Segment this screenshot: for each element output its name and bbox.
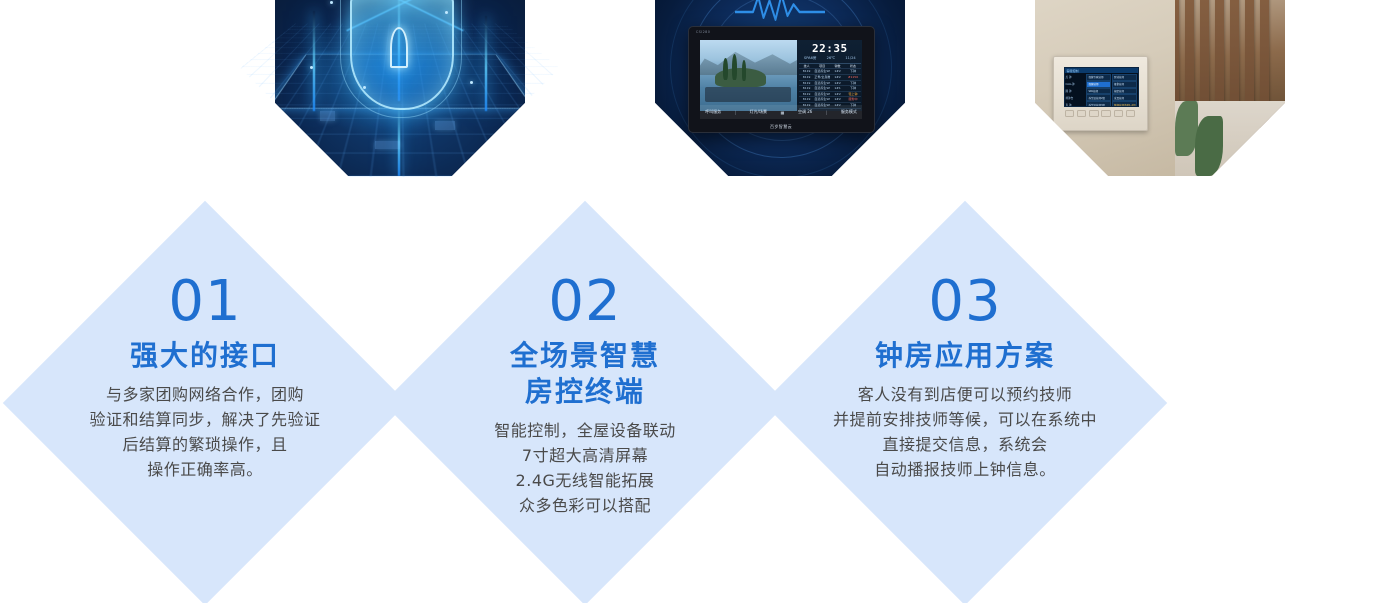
wall-panel-screen[interactable]: 客服控制 点 钟CALL钟圈 钟排钟台直 钟 保健专家技师区域技师保健技师推拿技… <box>1064 67 1139 107</box>
panel-left-label[interactable]: 点 钟 <box>1066 75 1085 79</box>
cell-count: 1#1 <box>830 86 845 91</box>
tablet-bottom-bar[interactable]: 呼叫服务 | 灯光/场景 ▦ 空调 26 | 服务模式 <box>700 105 863 120</box>
panel-left-label[interactable]: 直 钟 <box>1066 103 1085 107</box>
tablet-screen[interactable]: 22:35 SPA6房 26℃ 11/24 技人 项目 钟数 <box>700 40 863 111</box>
panel-row: 养生馆技师3组替换技师清单1-2组 <box>1086 101 1136 107</box>
wall-panel-left-labels[interactable]: 点 钟CALL钟圈 钟排钟台直 钟 <box>1065 73 1086 107</box>
btn-aircon[interactable]: 空调 26 <box>798 109 812 115</box>
wall-tablet-room-control-photo: CSI280 22:35 <box>655 0 905 176</box>
cell-count: 1#2 <box>830 69 845 74</box>
panel-button-4[interactable] <box>1101 110 1110 117</box>
clock-temp: 26℃ <box>827 56 836 61</box>
tablet-brand-bottom: 百岁智慧云 <box>689 124 874 130</box>
btn-light-scene[interactable]: 灯光/场景 <box>750 109 767 115</box>
card-1-description: 与多家团购网络合作，团购 验证和结算同步，解决了先验证 后结算的繁琐操作，且 操… <box>5 382 405 482</box>
panel-cell[interactable]: 养生馆技师3组 <box>1086 101 1111 107</box>
panel-cell[interactable]: SPA技师 <box>1086 88 1111 95</box>
shield-lock-icon <box>350 0 454 110</box>
card-3-title: 钟房应用方案 <box>765 338 1165 374</box>
clock-date: 11/24 <box>845 56 855 61</box>
th-item: 项目 <box>814 64 829 69</box>
cell-status: 下钟 <box>845 81 860 86</box>
btn-grid-icon[interactable]: ▦ <box>781 110 785 115</box>
panel-left-label[interactable]: CALL钟 <box>1066 82 1085 86</box>
card-3-image-diamond[interactable]: 客服控制 点 钟CALL钟圈 钟排钟台直 钟 保健专家技师区域技师保健技师推拿技… <box>983 0 1337 228</box>
cell-status: #1150 <box>845 75 860 80</box>
panel-row: 保健专家技师区域技师 <box>1086 74 1136 81</box>
cell-tech: 8119 <box>799 86 814 91</box>
wall-panel-buttons[interactable] <box>1064 110 1137 117</box>
cell-item: 正骨/全身推拿 <box>814 75 829 80</box>
panel-cell[interactable]: 推拿技师 <box>1112 81 1137 88</box>
cell-tech: 8119 <box>799 92 814 97</box>
panel-button-3[interactable] <box>1089 110 1098 117</box>
wall-control-panel[interactable]: 客服控制 点 钟CALL钟圈 钟排钟台直 钟 保健专家技师区域技师保健技师推拿技… <box>1053 56 1148 131</box>
panel-cell[interactable]: 养生馆技师2组 <box>1086 94 1111 101</box>
card-2-text-block: 02 全场景智慧 房控终端 智能控制，全屋设备联动 7寸超大高清屏幕 2.4G无… <box>385 260 785 518</box>
panel-button-2[interactable] <box>1077 110 1086 117</box>
cell-item: 自选养生SPA <box>814 97 829 102</box>
card-3-description: 客人没有到店便可以预约技师 并提前安排技师等候，可以在系统中 直接提交信息，系统… <box>765 382 1165 482</box>
cell-count: 1#2 <box>830 75 845 80</box>
card-1-text-diamond[interactable]: 01 强大的接口 与多家团购网络合作，团购 验证和结算同步，解决了先验证 后结算… <box>3 201 407 603</box>
tablet-brand-top: CSI280 <box>696 30 710 34</box>
panel-button-5[interactable] <box>1114 110 1123 117</box>
th-tech: 技人 <box>799 64 814 69</box>
btn-call-service[interactable]: 呼叫服务 <box>705 109 721 115</box>
cell-item: 自选养生SPA <box>814 86 829 91</box>
spa-corridor-wall-panel-photo: 客服控制 点 钟CALL钟圈 钟排钟台直 钟 保健专家技师区域技师保健技师推拿技… <box>1035 0 1285 176</box>
panel-cell[interactable]: 保健专家技师 <box>1086 74 1111 81</box>
card-1-number: 01 <box>5 272 405 332</box>
feature-diamonds-stage: 01 强大的接口 与多家团购网络合作，团购 验证和结算同步，解决了先验证 后结算… <box>0 0 1381 603</box>
cell-status: 服务中 <box>845 97 860 102</box>
card-2-text-diamond[interactable]: 02 全场景智慧 房控终端 智能控制，全屋设备联动 7寸超大高清屏幕 2.4G无… <box>383 201 787 603</box>
cell-tech: 8119 <box>799 81 814 86</box>
card-1-image-diamond[interactable] <box>223 0 577 228</box>
cell-count: 1#2 <box>830 81 845 86</box>
cell-tech: 8119 <box>799 69 814 74</box>
glowing-shield-circuit-board-photo <box>275 0 525 176</box>
cell-count: 1#2 <box>830 92 845 97</box>
heartbeat-pulse-icon <box>735 0 825 24</box>
btn-service-mode[interactable]: 服务模式 <box>841 109 857 115</box>
panel-button-6[interactable] <box>1126 110 1135 117</box>
card-2-image-diamond[interactable]: CSI280 22:35 <box>603 0 957 228</box>
th-count: 钟数 <box>830 64 845 69</box>
music-player-bar[interactable] <box>705 87 791 103</box>
cell-tech: 8119 <box>799 97 814 102</box>
cell-tech: 8119 <box>799 75 814 80</box>
panel-row: 养生馆技师2组采耳技师 <box>1086 94 1136 101</box>
card-3-text-diamond[interactable]: 03 钟房应用方案 客人没有到店便可以预约技师 并提前安排技师等候，可以在系统中… <box>763 201 1167 603</box>
th-status: 状态 <box>845 64 860 69</box>
sep-1: | <box>735 110 736 115</box>
card-2-description: 智能控制，全屋设备联动 7寸超大高清屏幕 2.4G无线智能拓展 众多色彩可以搭配 <box>385 418 785 518</box>
cell-item: 自选养生SPA <box>814 92 829 97</box>
cell-status: 下钟 <box>845 86 860 91</box>
panel-left-label[interactable]: 排钟台 <box>1066 96 1085 100</box>
card-2-title: 全场景智慧 房控终端 <box>385 338 785 410</box>
clock-panel: 22:35 SPA6房 26℃ 11/24 技人 项目 钟数 <box>797 40 862 111</box>
cell-item: 自选养生SPA <box>814 81 829 86</box>
card-2-number: 02 <box>385 272 785 332</box>
clock-room: SPA6房 <box>804 56 817 61</box>
cell-count: 1#2 <box>830 97 845 102</box>
panel-row: 保健技师推拿技师 <box>1086 81 1136 88</box>
card-3-text-block: 03 钟房应用方案 客人没有到店便可以预约技师 并提前安排技师等候，可以在系统中… <box>765 260 1165 482</box>
sep-2: | <box>826 110 827 115</box>
card-1-title: 强大的接口 <box>5 338 405 374</box>
clock-time: 22:35 <box>799 43 861 55</box>
panel-cell[interactable]: 保健技师 <box>1086 81 1111 88</box>
panel-cell[interactable]: 采耳技师 <box>1112 94 1137 101</box>
tablet-device[interactable]: CSI280 22:35 <box>688 26 875 133</box>
panel-cell[interactable]: 按摩技师 <box>1112 88 1137 95</box>
wallpaper-scene <box>700 40 798 111</box>
panel-cell[interactable]: 区域技师 <box>1112 74 1137 81</box>
panel-cell[interactable]: 替换技师清单1-2组 <box>1112 101 1137 107</box>
panel-row: SPA技师按摩技师 <box>1086 88 1136 95</box>
card-3-number: 03 <box>765 272 1165 332</box>
technician-table: 技人 项目 钟数 状态 8119自选养生SPA1#2下钟8119正骨/全身推拿1… <box>799 63 861 109</box>
cell-status: 轻上钟 <box>845 92 860 97</box>
cell-item: 自选养生SPA <box>814 69 829 74</box>
card-1-text-block: 01 强大的接口 与多家团购网络合作，团购 验证和结算同步，解决了先验证 后结算… <box>5 260 405 482</box>
panel-button-1[interactable] <box>1065 110 1074 117</box>
panel-left-label[interactable]: 圈 钟 <box>1066 89 1085 93</box>
wall-panel-rows[interactable]: 保健专家技师区域技师保健技师推拿技师SPA技师按摩技师养生馆技师2组采耳技师养生… <box>1085 73 1137 107</box>
cell-status: 下钟 <box>845 69 860 74</box>
